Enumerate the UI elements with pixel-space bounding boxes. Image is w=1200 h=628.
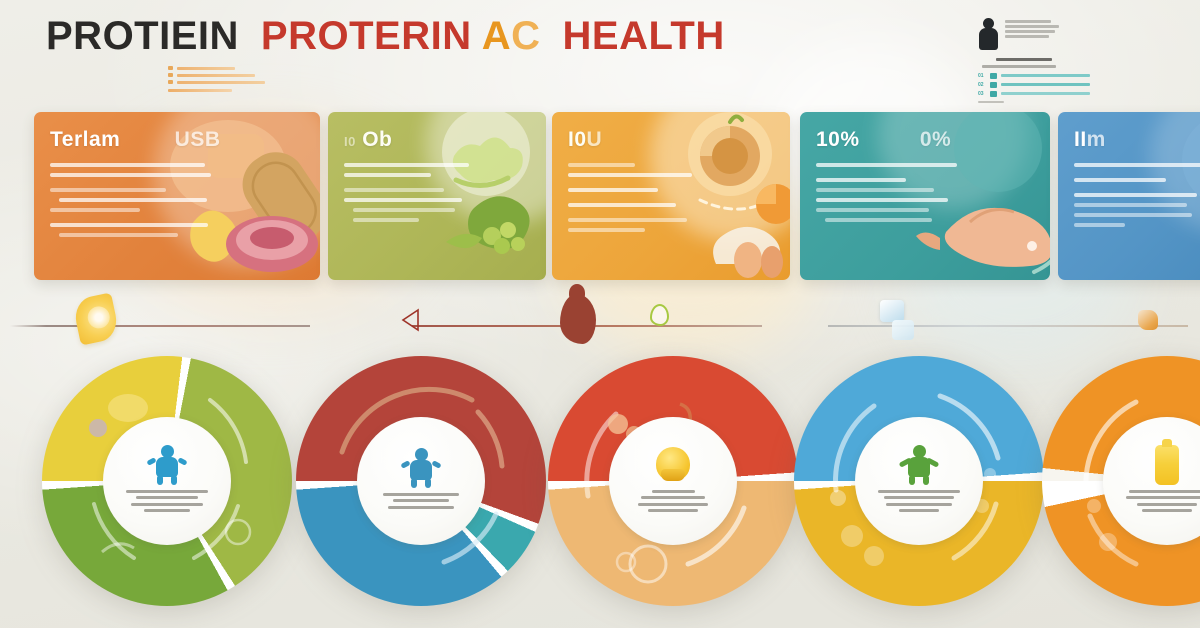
summary-badge: 01 02 03 — [978, 18, 1090, 103]
card-heading: IIm — [1074, 128, 1200, 152]
donut-chart-5[interactable] — [1042, 356, 1200, 606]
card-protein-sources[interactable]: Terlam USB — [34, 112, 320, 280]
card-heading: Terlam USB — [50, 128, 306, 152]
card-heading: I0U — [568, 128, 776, 152]
person-silhouette-icon — [978, 18, 1000, 52]
badge-legend-item: 01 — [978, 73, 1090, 79]
donut-chart-1[interactable] — [42, 356, 292, 606]
card-dairy[interactable]: IIm — [1058, 112, 1200, 280]
card-heading-main: I0 — [568, 128, 587, 151]
connector-line-segment — [828, 325, 1188, 327]
badge-item-swatch — [990, 73, 997, 79]
badge-legend-item: 03 — [978, 91, 1090, 97]
card-body-text — [50, 163, 211, 237]
card-heading-main: Terlam — [50, 128, 120, 151]
title-legend-item — [168, 66, 278, 70]
title-legend-label — [177, 74, 255, 77]
badge-header — [978, 18, 1090, 52]
badge-legend-item: 02 — [978, 82, 1090, 88]
card-heading-ghost: U — [587, 128, 603, 151]
card-heading: I0 Ob — [344, 128, 532, 152]
donut-2-center — [357, 417, 485, 545]
badge-item-label — [1001, 74, 1090, 77]
honey-chip-icon — [1138, 310, 1158, 330]
connector-line-segment — [10, 325, 310, 327]
title-legend — [168, 66, 278, 92]
card-heading-main: I0 — [344, 134, 356, 149]
card-vegetables[interactable]: I0 Ob — [328, 112, 546, 280]
badge-item-swatch — [990, 91, 997, 97]
badge-item-number: 01 — [978, 73, 986, 79]
title-legend-label — [177, 67, 235, 70]
title-legend-footer — [168, 89, 232, 92]
category-card-row: Terlam USB — [0, 112, 1200, 284]
pear-outline-icon — [650, 304, 669, 326]
donut-chart-3[interactable] — [548, 356, 798, 606]
berry-cluster-icon — [560, 294, 596, 344]
card-body-text — [344, 163, 472, 222]
card-heading-ghost: 0% — [920, 128, 951, 151]
bullet-icon — [168, 73, 173, 77]
yellow-bottle-icon — [1148, 445, 1186, 485]
title-legend-item — [168, 80, 278, 84]
title-word-3a: A — [482, 14, 511, 58]
triangle-marker-icon — [400, 308, 420, 332]
green-person-icon — [900, 445, 938, 485]
title-word-3b: C — [511, 14, 540, 58]
donut-4-center-text — [876, 490, 962, 516]
badge-item-swatch — [990, 82, 997, 88]
card-body-text — [1074, 163, 1200, 227]
title-word-4: HEALTH — [563, 16, 725, 56]
bullet-icon — [168, 80, 173, 84]
title-legend-label — [177, 81, 265, 84]
card-heading: 10% 0% — [816, 128, 1036, 152]
page-title: PROTIEIN PROTERIN AC HEALTH — [46, 16, 725, 56]
donut-5-center-text — [1124, 490, 1200, 516]
badge-description — [1005, 18, 1090, 40]
donut-chart-2[interactable] — [296, 356, 546, 606]
badge-item-label — [1001, 92, 1090, 95]
title-word-1: PROTIEIN — [46, 16, 239, 56]
infographic-canvas: PROTIEIN PROTERIN AC HEALTH — [0, 0, 1200, 628]
title-word-2: PROTERIN — [261, 14, 472, 58]
card-fruit[interactable]: I0U — [552, 112, 790, 280]
badge-item-label — [1001, 83, 1090, 86]
donut-chart-row — [0, 356, 1200, 628]
card-heading-ghost: Ob — [362, 128, 392, 151]
donut-3-center-text — [630, 490, 716, 516]
badge-subheading — [982, 65, 1056, 68]
badge-heading — [996, 58, 1052, 61]
card-heading-ghost: USB — [175, 128, 221, 151]
card-body-text — [816, 163, 957, 222]
ice-cube-icon — [880, 300, 904, 322]
ice-cube-icon-secondary — [892, 320, 914, 340]
blue-person-icon — [148, 445, 186, 485]
card-seafood[interactable]: 10% 0% — [800, 112, 1050, 280]
donut-chart-4[interactable] — [794, 356, 1044, 606]
donut-3-center — [609, 417, 737, 545]
blue-person-icon — [402, 448, 440, 488]
bullet-icon — [168, 66, 173, 70]
card-heading-main: 10% — [816, 128, 860, 151]
honey-pot-icon — [654, 445, 692, 485]
badge-item-number: 03 — [978, 91, 986, 97]
badge-item-number: 02 — [978, 82, 986, 88]
title-word-2-group: PROTERIN AC — [261, 16, 541, 56]
donut-1-center — [103, 417, 231, 545]
donut-1-center-text — [124, 490, 210, 516]
donut-2-center-text — [378, 493, 464, 513]
card-heading-ghost: m — [1087, 128, 1106, 151]
title-legend-item — [168, 73, 278, 77]
badge-footer — [978, 101, 1004, 103]
card-body-text — [568, 163, 697, 232]
donut-4-center — [855, 417, 983, 545]
card-heading-main: II — [1074, 128, 1087, 151]
timeline-connector — [0, 300, 1200, 354]
